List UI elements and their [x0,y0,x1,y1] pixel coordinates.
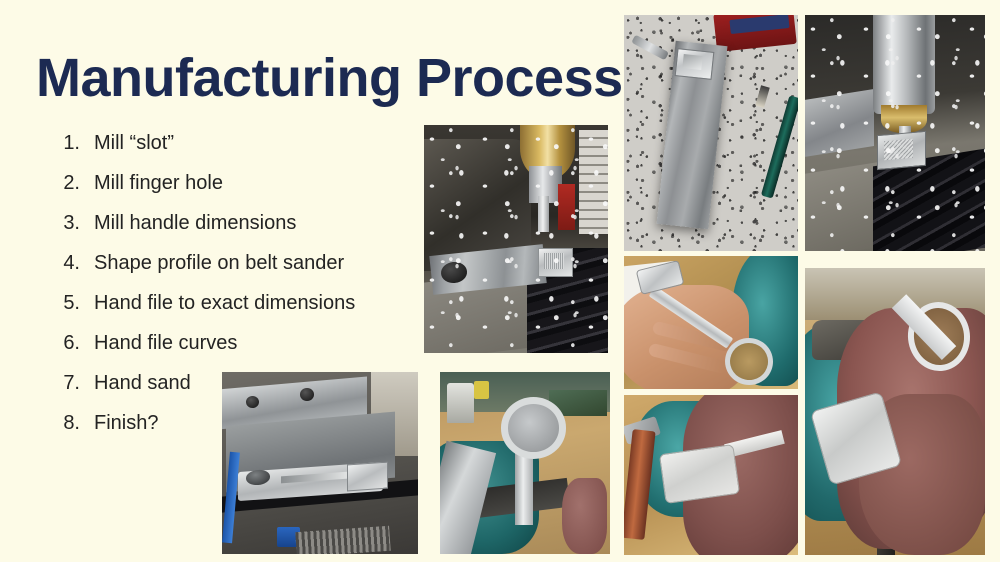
list-item-number: 5. [34,292,80,315]
photo-part-in-mill-vise [222,372,418,554]
list-item-label: Mill finger hole [94,172,223,195]
list-item-label: Hand sand [94,372,191,395]
list-item-label: Finish? [94,412,158,435]
photo-milling-slot [424,125,608,353]
list-item-number: 8. [34,412,80,435]
list-item-number: 3. [34,212,80,235]
photo-sanded-part-on-rag [624,395,798,555]
list-item-label: Shape profile on belt sander [94,252,344,275]
list-item-number: 2. [34,172,80,195]
photo-finger-hole-closeup [440,372,610,554]
photo-hand-holding-tool [624,256,798,389]
list-item-label: Hand file to exact dimensions [94,292,355,315]
list-item-label: Mill handle dimensions [94,212,296,235]
list-item: 1. Mill “slot” [34,132,434,172]
list-item-label: Mill “slot” [94,132,174,155]
list-item-number: 7. [34,372,80,395]
photo-finished-tool-on-rag [805,268,985,555]
list-item-label: Hand file curves [94,332,237,355]
page-title: Manufacturing Process [36,50,623,107]
list-item: 4. Shape profile on belt sander [34,252,434,292]
list-item: 6. Hand file curves [34,332,434,372]
list-item: 5. Hand file to exact dimensions [34,292,434,332]
slide-canvas: Manufacturing Process 1. Mill “slot” 2. … [0,0,1000,562]
list-item: 3. Mill handle dimensions [34,212,434,252]
list-item-number: 4. [34,252,80,275]
list-item: 2. Mill finger hole [34,172,434,212]
photo-bar-stock-on-bench [624,15,798,251]
list-item-number: 1. [34,132,80,155]
photo-spindle-closeup [805,15,985,251]
list-item-number: 6. [34,332,80,355]
